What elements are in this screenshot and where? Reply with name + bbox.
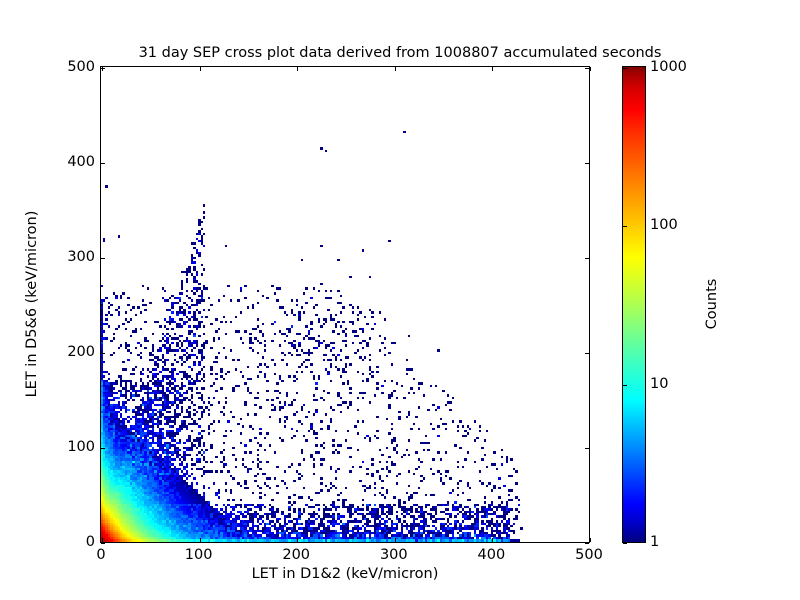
x-tick	[297, 67, 298, 71]
colorbar-tick-label: 1	[650, 534, 659, 550]
y-tick	[101, 353, 105, 354]
x-tick	[102, 538, 103, 542]
heatmap-canvas	[101, 67, 589, 542]
colorbar-tick	[623, 385, 627, 386]
y-tick	[101, 543, 105, 544]
y-tick	[585, 68, 589, 69]
x-tick	[590, 538, 591, 542]
x-tick	[297, 538, 298, 542]
y-tick-label: 0	[86, 534, 95, 550]
x-tick	[200, 538, 201, 542]
x-tick-label: 500	[575, 547, 603, 563]
heatmap-area	[101, 67, 589, 542]
y-tick	[101, 258, 105, 259]
y-tick-label: 500	[67, 59, 95, 75]
x-tick	[200, 67, 201, 71]
x-axis-title: LET in D1&2 (keV/micron)	[252, 566, 439, 582]
colorbar-tick	[623, 68, 627, 69]
y-tick	[101, 448, 105, 449]
y-tick	[101, 163, 105, 164]
y-tick	[585, 543, 589, 544]
colorbar	[622, 66, 646, 543]
y-tick-label: 200	[67, 344, 95, 360]
x-tick-label: 100	[185, 547, 213, 563]
y-tick-label: 300	[67, 249, 95, 265]
colorbar-tick-label: 100	[650, 217, 678, 233]
y-tick-label: 400	[67, 154, 95, 170]
x-tick-label: 0	[96, 547, 105, 563]
y-tick	[585, 163, 589, 164]
x-tick	[492, 538, 493, 542]
figure: 31 day SEP cross plot data derived from …	[0, 0, 800, 600]
colorbar-tick-label: 1000	[650, 59, 687, 75]
x-tick-label: 300	[380, 547, 408, 563]
x-tick	[590, 67, 591, 71]
y-tick	[101, 68, 105, 69]
colorbar-tick-label: 10	[650, 376, 668, 392]
y-tick	[585, 448, 589, 449]
colorbar-title: Counts	[704, 279, 720, 330]
y-tick	[585, 353, 589, 354]
plot-axes	[100, 66, 590, 543]
y-tick-label: 100	[67, 439, 95, 455]
x-tick	[395, 538, 396, 542]
x-tick-label: 400	[478, 547, 506, 563]
colorbar-tick	[623, 226, 627, 227]
colorbar-tick	[623, 543, 627, 544]
y-tick	[585, 258, 589, 259]
y-axis-title: LET in D5&6 (keV/micron)	[24, 211, 40, 398]
x-tick	[492, 67, 493, 71]
x-tick	[395, 67, 396, 71]
x-tick-label: 200	[282, 547, 310, 563]
